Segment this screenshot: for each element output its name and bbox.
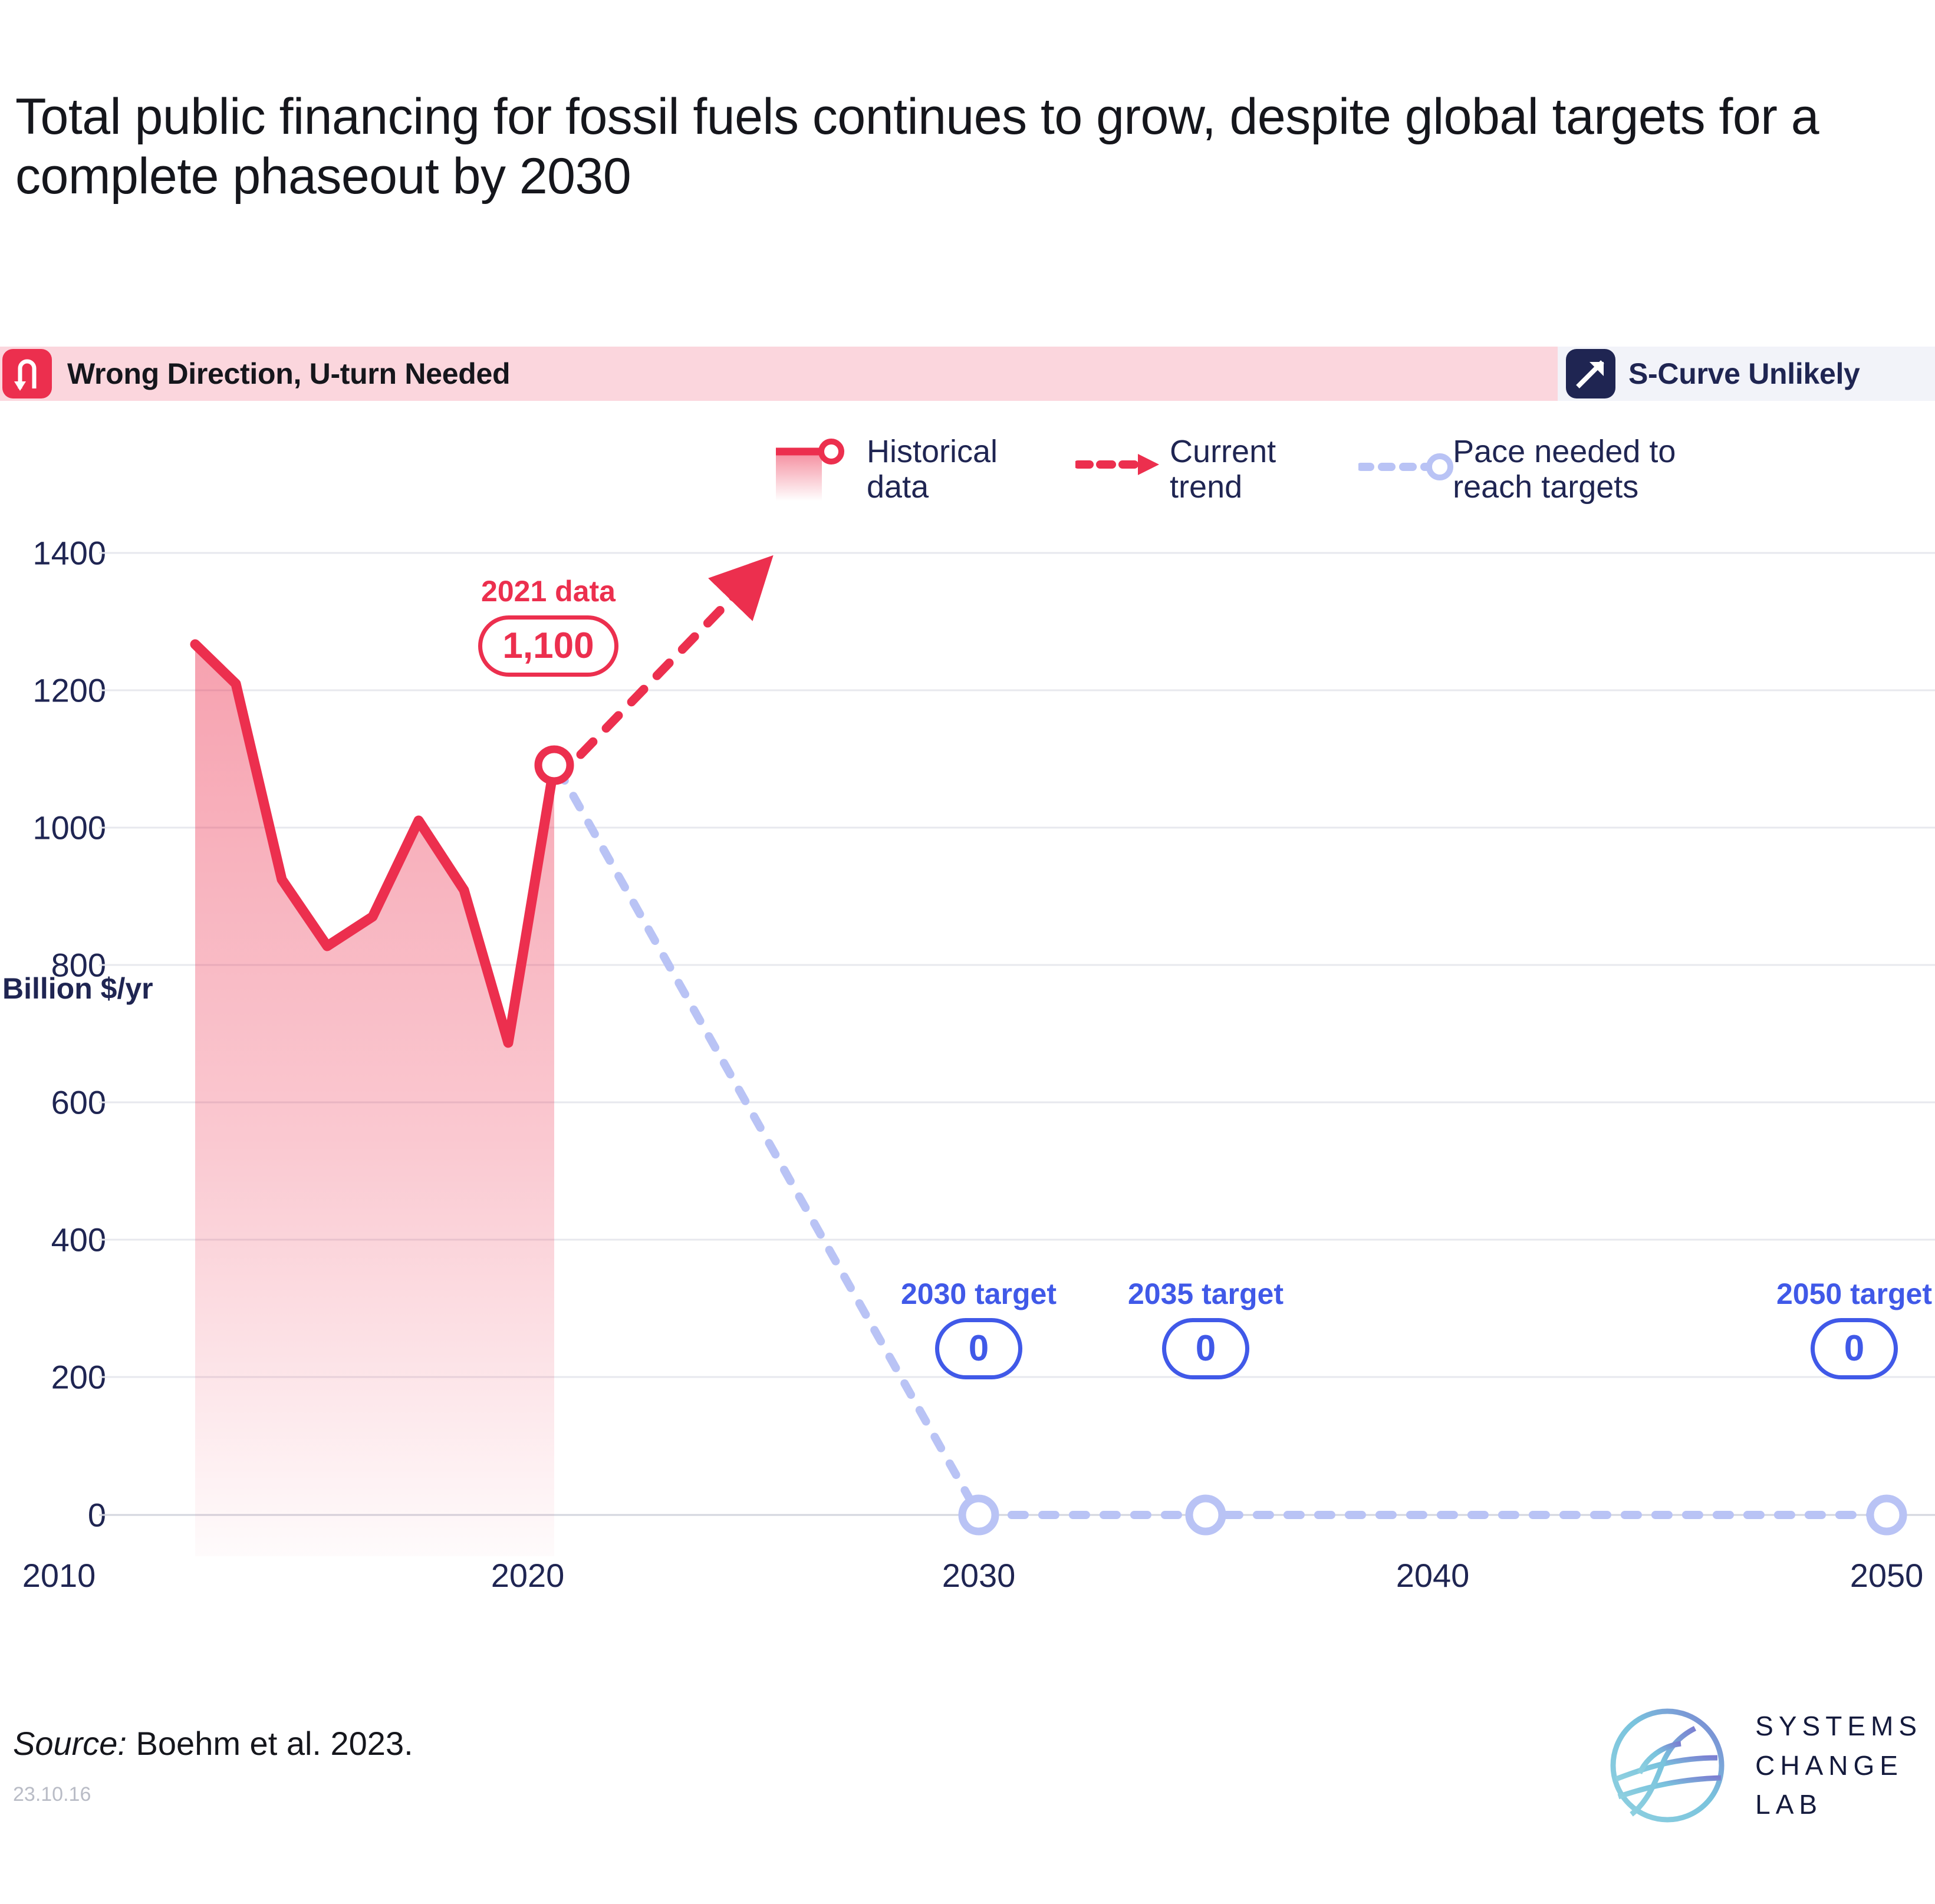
callout-2050-target: 2050 target 0 — [1769, 1279, 1935, 1379]
status-banner-s-curve: S-Curve Unlikely — [1558, 347, 1935, 401]
x-tick-2050: 2050 — [1850, 1556, 1924, 1595]
legend-swatch-trend-arrow — [1075, 430, 1170, 495]
legend-label-historical-data: Historical data — [867, 430, 998, 505]
legend-label-pace-needed: Pace needed to reach targets — [1453, 430, 1676, 505]
legend-label-current-trend: Current trend — [1170, 430, 1276, 505]
source-credit: Source: Boehm et al. 2023. — [13, 1724, 413, 1763]
callout-2035-pill: 0 — [1162, 1318, 1249, 1379]
source-text: Boehm et al. 2023. — [127, 1725, 413, 1762]
target-marker-2030 — [962, 1498, 995, 1531]
systems-change-lab-logo: SYSTEMS CHANGE LAB — [1605, 1704, 1922, 1827]
diagonal-up-arrow-icon — [1566, 349, 1615, 398]
legend-item-pace-needed: Pace needed to reach targets — [1358, 430, 1676, 505]
callout-2050-title: 2050 target — [1769, 1279, 1935, 1309]
callout-2050-value: 0 — [1844, 1330, 1864, 1367]
legend-item-historical-data: Historical data — [772, 430, 998, 505]
legend-swatch-pace-line — [1358, 430, 1453, 495]
status-banner: Wrong Direction, U-turn Needed S-Curve U… — [0, 347, 1935, 401]
page-title: Total public financing for fossil fuels … — [15, 87, 1855, 207]
callout-2021-value: 1,100 — [502, 628, 594, 664]
callout-2035-title: 2035 target — [1120, 1279, 1291, 1309]
status-banner-right-label: S-Curve Unlikely — [1628, 357, 1860, 391]
x-tick-2040: 2040 — [1396, 1556, 1470, 1595]
x-tick-2030: 2030 — [942, 1556, 1016, 1595]
target-marker-2035 — [1189, 1498, 1222, 1531]
chart-legend: Historical data Current trend Pace neede… — [772, 430, 1928, 513]
plot-area — [0, 519, 1935, 1556]
callout-2035-target: 2035 target 0 — [1120, 1279, 1291, 1379]
status-banner-wrong-direction: Wrong Direction, U-turn Needed — [0, 347, 1558, 401]
callout-2030-title: 2030 target — [893, 1279, 1064, 1309]
legend-swatch-historical-line — [772, 430, 867, 495]
pace-needed-line — [558, 769, 1887, 1515]
target-marker-2050 — [1870, 1498, 1903, 1531]
callout-2030-target: 2030 target 0 — [893, 1279, 1064, 1379]
legend-item-current-trend: Current trend — [1075, 430, 1276, 505]
date-stamp: 23.10.16 — [13, 1783, 91, 1806]
chart-canvas: Billion $/yr 1400 1200 1000 800 600 400 … — [0, 519, 1935, 1592]
u-turn-down-arrow-icon — [2, 349, 52, 398]
callout-2030-value: 0 — [969, 1330, 989, 1367]
callout-2021-pill: 1,100 — [478, 615, 618, 677]
x-tick-2020: 2020 — [491, 1556, 565, 1595]
historical-endpoint-marker — [538, 749, 570, 781]
status-banner-left-label: Wrong Direction, U-turn Needed — [67, 357, 510, 391]
callout-2021-data: 2021 data 1,100 — [454, 577, 643, 677]
callout-2021-title: 2021 data — [454, 577, 643, 606]
globe-logo-icon — [1605, 1704, 1729, 1827]
historical-area-fill — [195, 644, 554, 1556]
callout-2030-pill: 0 — [935, 1318, 1022, 1379]
callout-2035-value: 0 — [1196, 1330, 1216, 1367]
logo-wordmark: SYSTEMS CHANGE LAB — [1755, 1707, 1922, 1824]
source-prefix: Source: — [13, 1725, 127, 1762]
callout-2050-pill: 0 — [1811, 1318, 1898, 1379]
x-tick-2010: 2010 — [22, 1556, 96, 1595]
